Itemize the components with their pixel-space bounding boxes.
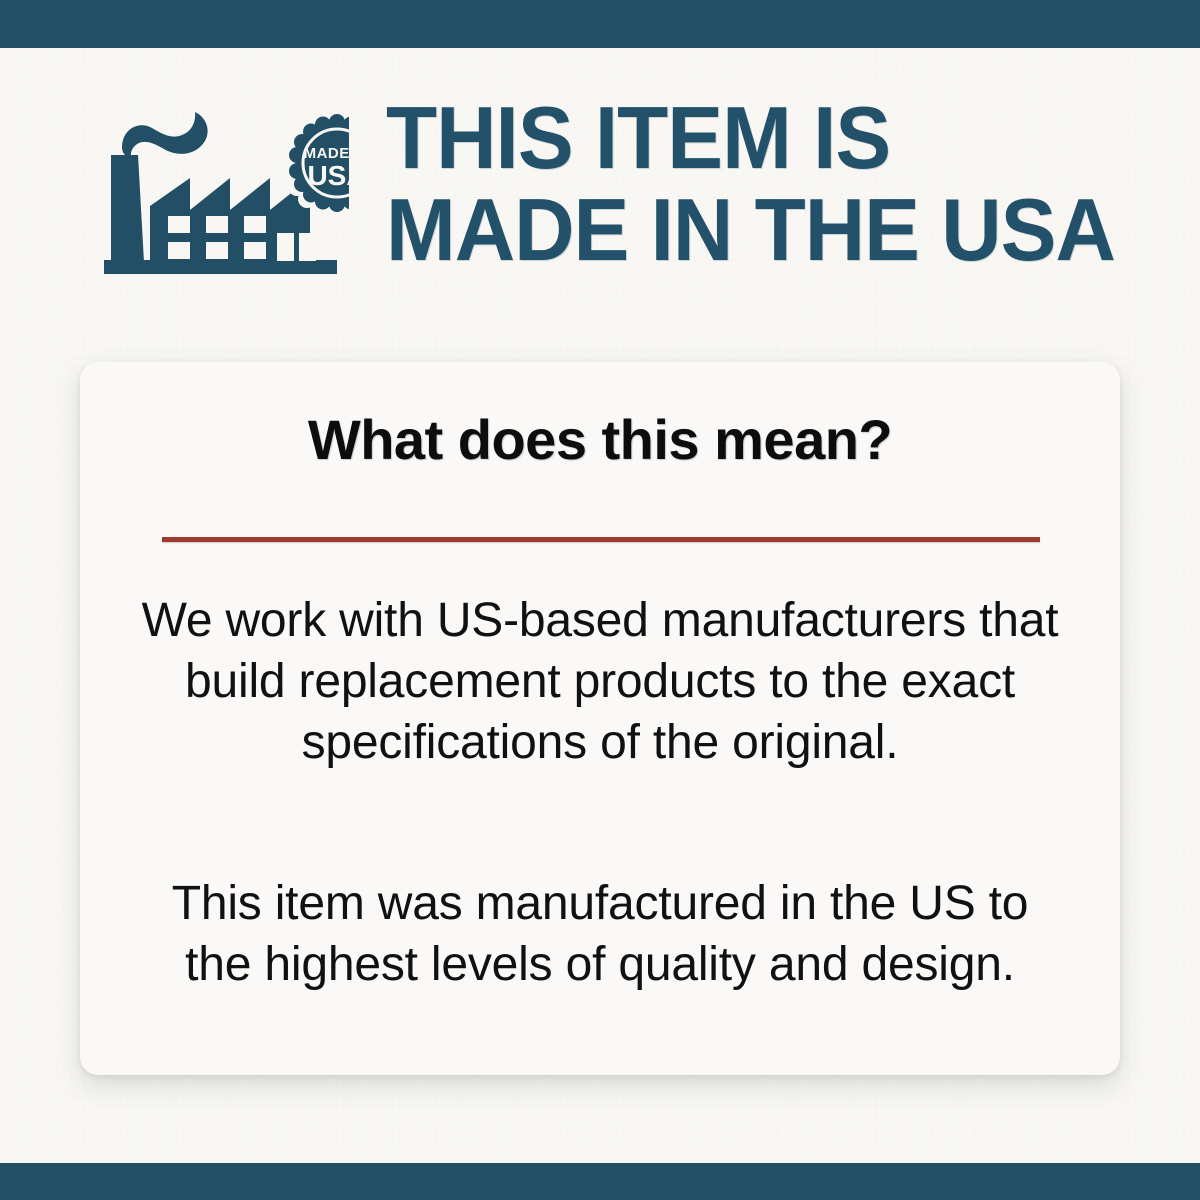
- top-accent-bar: [0, 0, 1200, 48]
- header: MADE IN USA THIS ITEM IS MADE IN THE USA: [0, 92, 1200, 297]
- card-body: We work with US-based manufacturers that…: [140, 590, 1060, 995]
- red-divider: [162, 537, 1040, 542]
- body-paragraph-2: This item was manufactured in the US to …: [140, 873, 1060, 995]
- factory-with-made-in-usa-badge-icon: MADE IN USA: [104, 100, 349, 285]
- headline-line-2: MADE IN THE USA: [386, 184, 1127, 276]
- explanation-card: What does this mean? We work with US-bas…: [80, 362, 1120, 1075]
- badge-usa-text: USA: [307, 160, 349, 191]
- body-paragraph-1: We work with US-based manufacturers that…: [140, 590, 1060, 773]
- headline-line-1: THIS ITEM IS: [386, 92, 1127, 184]
- made-in-usa-poster: MADE IN USA THIS ITEM IS MADE IN THE USA…: [0, 0, 1200, 1200]
- page-title: THIS ITEM IS MADE IN THE USA: [386, 92, 1127, 276]
- card-heading: What does this mean?: [80, 410, 1120, 470]
- bottom-accent-bar: [0, 1163, 1200, 1200]
